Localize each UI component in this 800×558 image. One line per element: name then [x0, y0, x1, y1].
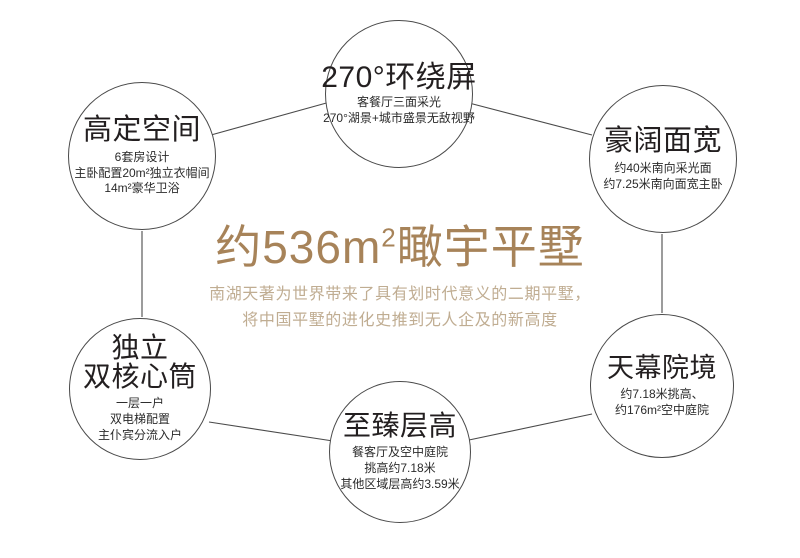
node-detail-line: 约7.25米南向面宽主卧: [603, 177, 722, 193]
node-detail-line: 约7.18米挑高、: [615, 387, 709, 403]
node-detail-lines: 约40米南向采光面 约7.25米南向面宽主卧: [603, 161, 722, 193]
node-sky-courtyard[interactable]: 天幕院境 约7.18米挑高、 约176m²空中庭院: [590, 314, 734, 458]
node-detail-lines: 餐客厅及空中庭院 挑高约7.18米 其他区域层高约3.59米: [340, 445, 459, 492]
headline-superscript: 2: [381, 223, 396, 253]
node-title-line1: 独立: [83, 334, 197, 363]
node-custom-space[interactable]: 高定空间 6套房设计 主卧配置20m²独立衣帽间 14m²豪华卫浴: [68, 82, 216, 230]
node-detail-line: 14m²豪华卫浴: [74, 181, 209, 197]
node-title: 独立 双核心筒: [83, 334, 197, 391]
node-dual-core-tower[interactable]: 独立 双核心筒 一层一户 双电梯配置 主仆宾分流入户: [69, 318, 211, 460]
node-detail-line: 双电梯配置: [98, 412, 182, 428]
node-detail-lines: 一层一户 双电梯配置 主仆宾分流入户: [98, 396, 182, 443]
node-detail-line: 约40米南向采光面: [603, 161, 722, 177]
headline-prefix: 约536m: [215, 221, 381, 273]
node-detail-line: 主仆宾分流入户: [98, 428, 182, 444]
node-title: 豪阔面宽: [604, 126, 722, 156]
connector-bottomleft-bottom: [209, 422, 333, 441]
node-detail-lines: 客餐厅三面采光 270°湖景+城市盛景无敌视野: [323, 95, 475, 127]
infographic-canvas: 270°环绕屏 客餐厅三面采光 270°湖景+城市盛景无敌视野 高定空间 6套房…: [0, 0, 800, 558]
node-270-surround-screen[interactable]: 270°环绕屏 客餐厅三面采光 270°湖景+城市盛景无敌视野: [325, 20, 473, 168]
node-title: 至臻层高: [343, 411, 457, 440]
subtitle-line: 将中国平墅的进化史推到无人企及的新高度: [150, 308, 650, 334]
connector-bottom-bottomright: [469, 414, 592, 440]
node-detail-line: 客餐厅三面采光: [323, 95, 475, 111]
node-detail-line: 餐客厅及空中庭院: [340, 445, 459, 461]
node-detail-line: 270°湖景+城市盛景无敌视野: [323, 111, 475, 127]
page-subtitle: 南湖天著为世界带来了具有划时代意义的二期平墅， 将中国平墅的进化史推到无人企及的…: [150, 282, 650, 334]
node-detail-lines: 约7.18米挑高、 约176m²空中庭院: [615, 387, 709, 419]
node-title: 270°环绕屏: [321, 62, 477, 93]
subtitle-line: 南湖天著为世界带来了具有划时代意义的二期平墅，: [150, 282, 650, 308]
node-detail-line: 挑高约7.18米: [340, 461, 459, 477]
connector-top-topright: [469, 103, 592, 135]
node-ceiling-height[interactable]: 至臻层高 餐客厅及空中庭院 挑高约7.18米 其他区域层高约3.59米: [329, 381, 471, 523]
page-title: 约536m2瞰宇平墅: [150, 224, 650, 270]
node-title: 天幕院境: [607, 354, 717, 382]
node-detail-line: 一层一户: [98, 396, 182, 412]
node-detail-line: 其他区域层高约3.59米: [340, 477, 459, 493]
node-title: 高定空间: [83, 115, 201, 145]
node-detail-lines: 6套房设计 主卧配置20m²独立衣帽间 14m²豪华卫浴: [74, 150, 209, 197]
center-headline-block: 约536m2瞰宇平墅 南湖天著为世界带来了具有划时代意义的二期平墅， 将中国平墅…: [150, 224, 650, 334]
node-detail-line: 主卧配置20m²独立衣帽间: [74, 166, 209, 182]
node-detail-line: 6套房设计: [74, 150, 209, 166]
node-title-line2: 双核心筒: [83, 363, 197, 392]
headline-suffix: 瞰宇平墅: [397, 221, 585, 273]
connector-topleft-top: [211, 102, 330, 135]
node-detail-line: 约176m²空中庭院: [615, 403, 709, 419]
node-grand-frontage[interactable]: 豪阔面宽 约40米南向采光面 约7.25米南向面宽主卧: [589, 85, 737, 233]
